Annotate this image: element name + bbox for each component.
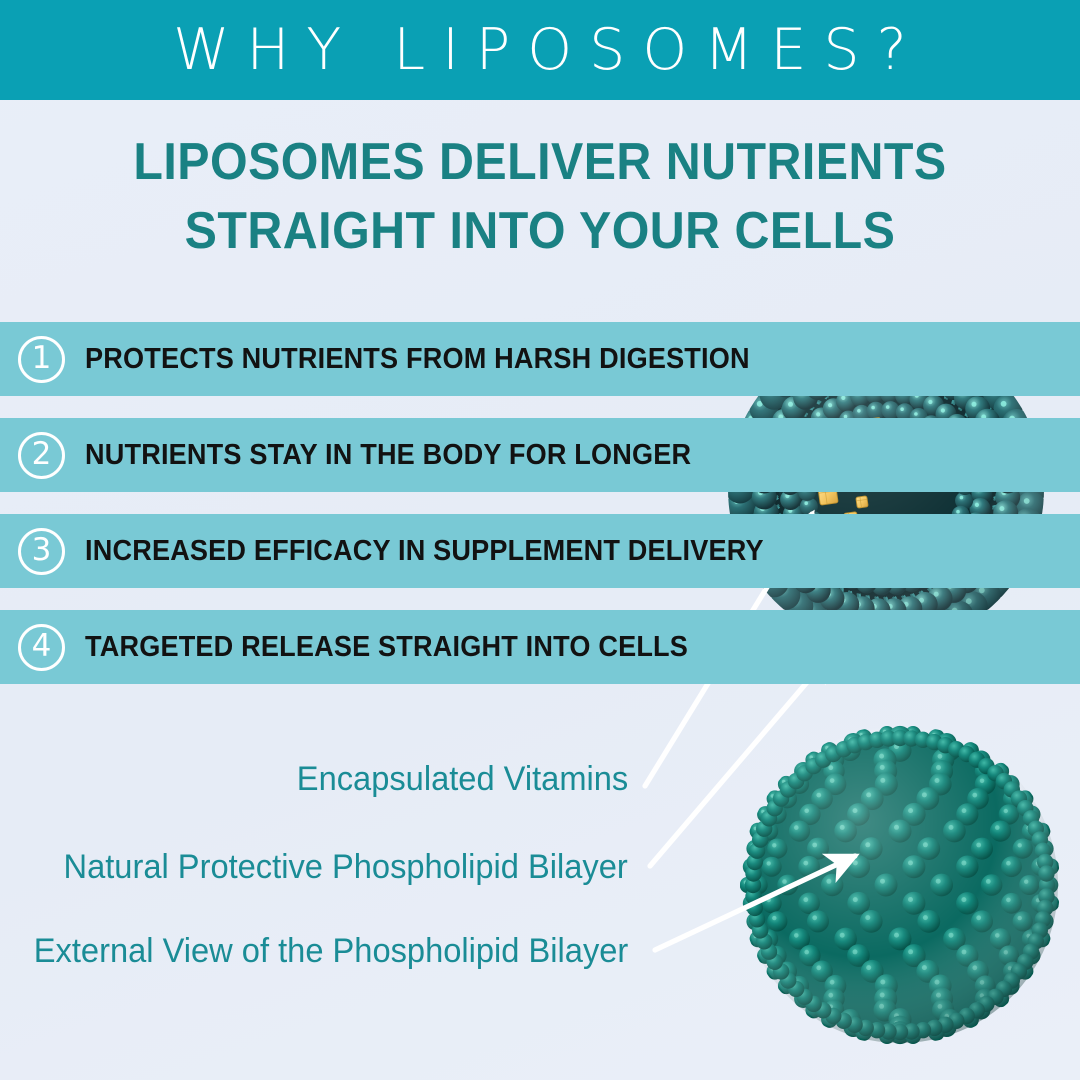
callout-labels: Encapsulated Vitamins Natural Protective… xyxy=(0,0,1080,1080)
infographic-canvas: WHY LIPOSOMES? LIPOSOMES DELIVER NUTRIEN… xyxy=(0,0,1080,1080)
callout-label-external-view: External View of the Phospholipid Bilaye… xyxy=(33,932,628,971)
callout-label-phospholipid-bilayer: Natural Protective Phospholipid Bilayer xyxy=(64,848,628,887)
callout-label-encapsulated-vitamins: Encapsulated Vitamins xyxy=(297,760,628,799)
